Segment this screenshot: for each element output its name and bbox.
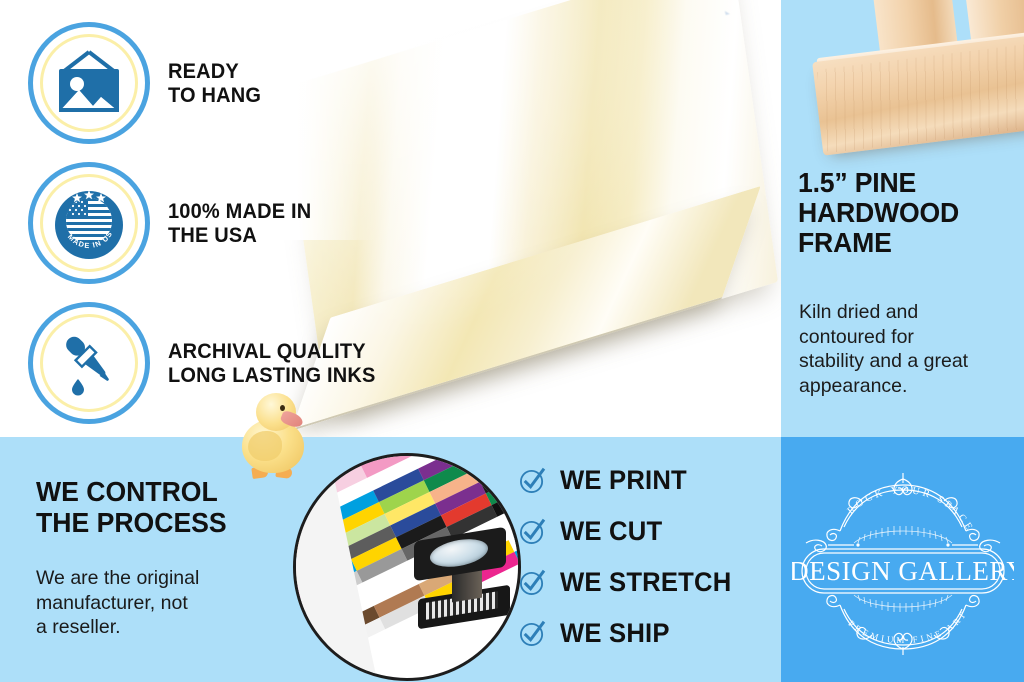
feature-archival-inks: ARCHIVAL QUALITY LONG LASTING INKS bbox=[28, 302, 391, 424]
pine-frame-panel: 1.5” PINE HARDWOOD FRAME Kiln dried and … bbox=[781, 0, 1024, 437]
idesign-gallery-logo: ROCK YOUR SPACE PREMIUM FINE ART ·IDESIG… bbox=[792, 465, 1014, 655]
feature-label: READY TO HANG bbox=[168, 59, 261, 108]
eyedropper-icon bbox=[28, 302, 150, 424]
svg-text:MADE IN USA: MADE IN USA bbox=[50, 184, 115, 250]
process-panel-left: WE CONTROL THE PROCESS We are the origin… bbox=[0, 437, 781, 682]
check-circle-icon bbox=[519, 569, 546, 596]
feature-label: 100% MADE IN THE USA bbox=[168, 199, 311, 248]
checklist-item: WE CUT bbox=[519, 506, 741, 557]
check-circle-icon bbox=[519, 518, 546, 545]
canvas-print-detail bbox=[718, 0, 771, 15]
frame-panel-body: Kiln dried and contoured for stability a… bbox=[799, 300, 1011, 398]
framed-picture-icon bbox=[28, 22, 150, 144]
feature-ready-to-hang: READY TO HANG bbox=[28, 22, 268, 144]
checklist-item: WE PRINT bbox=[519, 455, 741, 506]
checklist-item: WE SHIP bbox=[519, 608, 741, 659]
features-panel: READY TO HANG bbox=[0, 0, 781, 437]
printers-loupe-icon bbox=[414, 534, 510, 630]
checklist-label: WE PRINT bbox=[560, 465, 687, 496]
cmyk-color-test-chart-photo bbox=[293, 453, 521, 681]
checklist-item: WE STRETCH bbox=[519, 557, 741, 608]
check-circle-icon bbox=[519, 620, 546, 647]
checklist-label: WE CUT bbox=[560, 516, 662, 547]
control-body: We are the original manufacturer, not a … bbox=[36, 566, 251, 640]
check-circle-icon bbox=[519, 467, 546, 494]
brand-logo-panel: ROCK YOUR SPACE PREMIUM FINE ART ·IDESIG… bbox=[781, 437, 1024, 682]
logo-name: ·IDESIGN GALLERY· bbox=[792, 556, 1014, 586]
feature-made-in-usa: MADE IN USA 100% MADE IN THE USA bbox=[28, 162, 322, 284]
control-title: WE CONTROL THE PROCESS bbox=[36, 477, 227, 539]
process-checklist: WE PRINT WE CUT bbox=[519, 455, 741, 659]
checklist-label: WE STRETCH bbox=[560, 567, 731, 598]
frame-panel-title: 1.5” PINE HARDWOOD FRAME bbox=[798, 168, 1002, 259]
duck-eye bbox=[280, 405, 285, 411]
checklist-label: WE SHIP bbox=[560, 618, 670, 649]
logo-tagline-top: ROCK YOUR SPACE bbox=[845, 484, 975, 534]
duck-wing bbox=[248, 431, 282, 461]
product-infographic: READY TO HANG bbox=[0, 0, 1024, 682]
feature-label: ARCHIVAL QUALITY LONG LASTING INKS bbox=[168, 339, 376, 388]
made-in-usa-badge-icon: MADE IN USA bbox=[28, 162, 150, 284]
